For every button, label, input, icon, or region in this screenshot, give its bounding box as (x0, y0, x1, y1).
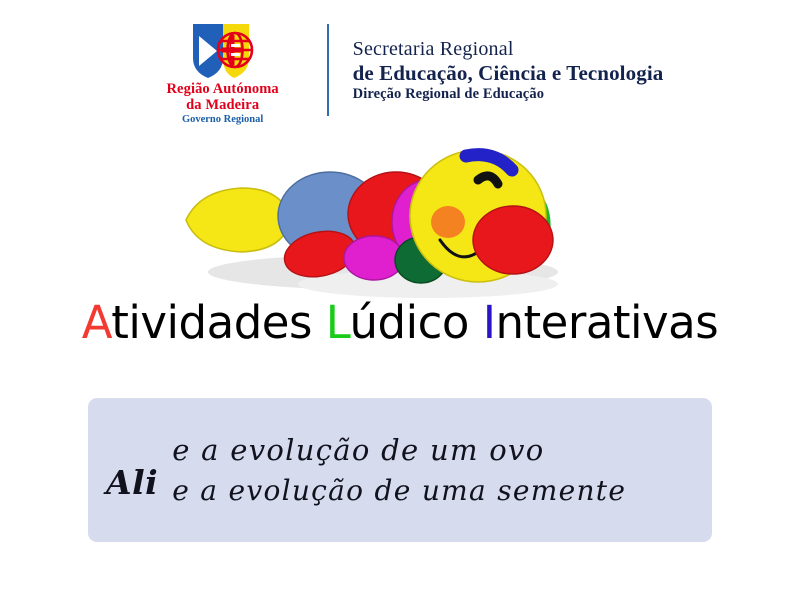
subtitle-name-ali: Ali (106, 463, 158, 502)
subtitle-lines: e a evolução de um ovo e a evolução de u… (172, 429, 626, 512)
subtitle-line-2: e a evolução de uma semente (172, 471, 626, 512)
crest-line-2: da Madeira (166, 98, 278, 114)
crest-line-1: Região Autónoma (166, 82, 278, 98)
secretariat-line-3: Direção Regional de Educação (353, 86, 664, 103)
institutional-header: Região Autónoma da Madeira Governo Regio… (0, 22, 800, 132)
brand-block: Região Autónoma da Madeira Governo Regio… (137, 22, 664, 126)
madeira-coat-of-arms-icon (187, 22, 259, 80)
subtitle-panel: Ali e a evolução de um ovo e a evolução … (88, 398, 712, 542)
secretariat-line-2: de Educação, Ciência e Tecnologia (353, 61, 664, 85)
madeira-government-logo: Região Autónoma da Madeira Governo Regio… (137, 22, 309, 126)
page-title: Atividades Lúdico Interativas (0, 296, 800, 349)
title-word-atividades: tividades (111, 296, 312, 349)
subtitle-line-1: e a evolução de um ovo (172, 429, 626, 471)
crest-wordmark: Região Autónoma da Madeira Governo Regio… (166, 82, 278, 126)
caterpillar-mascot-icon (178, 132, 598, 307)
crest-line-3: Governo Regional (166, 114, 278, 125)
vertical-divider-icon (327, 24, 329, 116)
title-word-interativas: nterativas (495, 296, 718, 349)
subtitle-panel-inner: Ali e a evolução de um ovo e a evolução … (88, 429, 712, 512)
title-word-ludico: údico (350, 296, 469, 349)
title-initial-l: L (326, 296, 350, 349)
title-initial-a: A (82, 296, 112, 349)
title-initial-i: I (483, 296, 496, 349)
secretariat-line-1: Secretaria Regional (353, 38, 664, 61)
slide-canvas: Região Autónoma da Madeira Governo Regio… (0, 0, 800, 600)
secretariat-wordmark: Secretaria Regional de Educação, Ciência… (353, 22, 664, 102)
